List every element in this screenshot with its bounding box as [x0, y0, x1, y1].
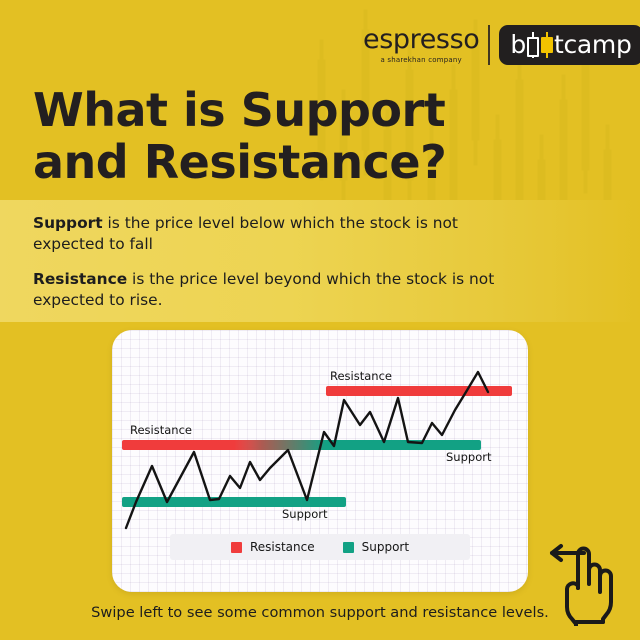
swipe-left-hand-icon[interactable] — [548, 540, 618, 626]
footer-caption: Swipe left to see some common support an… — [0, 604, 640, 621]
poster-root: espresso a sharekhan company b tcamp Wha… — [0, 0, 640, 640]
bootcamp-suffix-text: tcamp — [554, 30, 632, 59]
chart-label-resistance-lower: Resistance — [130, 423, 192, 437]
chart-legend: Resistance Support — [170, 534, 470, 560]
resistance-level-upper — [326, 386, 512, 396]
bootcamp-wordmark: b tcamp — [510, 30, 631, 59]
chart-card: Resistance Resistance Support Support Re… — [112, 330, 528, 592]
espresso-logo[interactable]: espresso a sharekhan company — [363, 26, 479, 64]
support-definition-term: Support — [33, 214, 103, 232]
bootcamp-prefix-text: b — [510, 30, 526, 59]
espresso-wordmark: espresso — [363, 26, 479, 53]
espresso-tagline: a sharekhan company — [380, 57, 461, 64]
legend-swatch-support — [343, 542, 354, 553]
resistance-definition: Resistance is the price level beyond whi… — [33, 269, 533, 311]
legend-item-resistance[interactable]: Resistance — [231, 540, 315, 554]
legend-label-resistance: Resistance — [250, 540, 315, 554]
support-level-lower — [122, 497, 346, 507]
legend-label-support: Support — [362, 540, 409, 554]
legend-item-support[interactable]: Support — [343, 540, 409, 554]
chart-label-support-lower: Support — [282, 507, 327, 521]
resistance-level-lower — [122, 440, 326, 450]
chart-label-support-upper: Support — [446, 450, 491, 464]
page-title-line-2: and Resistance? — [33, 136, 503, 188]
candlestick-yellow-icon — [541, 32, 553, 58]
page-title: What is Support and Resistance? — [33, 84, 503, 188]
chart-label-resistance-upper: Resistance — [330, 369, 392, 383]
legend-swatch-resistance — [231, 542, 242, 553]
brand-header: espresso a sharekhan company b tcamp — [363, 25, 640, 65]
page-title-line-1: What is Support — [33, 84, 503, 136]
support-definition: Support is the price level below which t… — [33, 213, 533, 255]
candlestick-white-icon — [527, 32, 539, 58]
logo-divider — [488, 25, 490, 65]
resistance-definition-term: Resistance — [33, 270, 127, 288]
bootcamp-logo[interactable]: b tcamp — [499, 25, 640, 65]
